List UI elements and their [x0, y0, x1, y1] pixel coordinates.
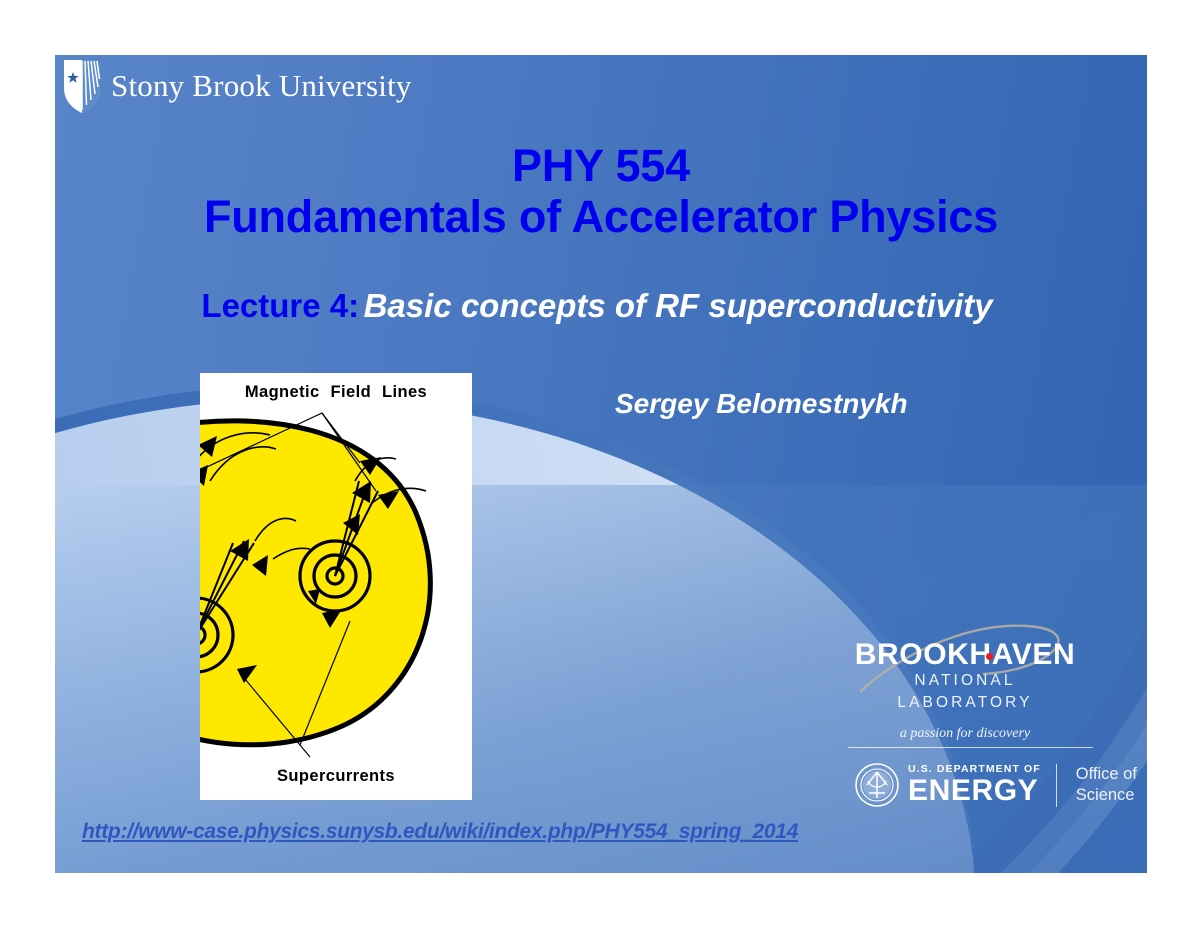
- vortex-diagram-icon: [200, 373, 472, 800]
- lecture-topic: Basic concepts of RF superconductivity: [364, 287, 993, 324]
- figure-label-supercurrents: Supercurrents: [200, 767, 472, 786]
- bnl-tagline: a passion for discovery: [845, 726, 1085, 742]
- logo-divider-rule: [848, 747, 1093, 748]
- slide-title: PHY 554 Fundamentals of Accelerator Phys…: [55, 140, 1147, 243]
- doe-wordmark: U.S. DEPARTMENT OF ENERGY: [908, 764, 1041, 806]
- bnl-subtitle: NATIONAL LABORATORY: [845, 670, 1085, 713]
- title-line-1: PHY 554: [55, 140, 1147, 191]
- stony-brook-logo: Stony Brook University: [63, 58, 412, 114]
- author-name: Sergey Belomestnykh: [615, 388, 908, 420]
- superconductor-figure: Magnetic Field Lines: [200, 373, 472, 800]
- doe-office-of-science: Office of Science: [1076, 764, 1137, 805]
- title-line-2: Fundamentals of Accelerator Physics: [55, 191, 1147, 242]
- doe-seal-icon: [855, 763, 899, 807]
- brookhaven-logo: BROOKHAVEN NATIONAL LABORATORY a passion…: [845, 640, 1085, 742]
- presentation-slide: Stony Brook University PHY 554 Fundament…: [55, 55, 1147, 873]
- doe-energy-line: ENERGY: [908, 776, 1041, 806]
- doe-logo: U.S. DEPARTMENT OF ENERGY Office of Scie…: [855, 763, 1137, 807]
- doe-vertical-divider: [1056, 764, 1057, 807]
- lecture-label: Lecture 4:: [201, 287, 359, 324]
- doe-office-line-1: Office of: [1076, 764, 1137, 785]
- course-url-link[interactable]: http://www-case.physics.sunysb.edu/wiki/…: [82, 820, 798, 844]
- bnl-wordmark: BROOKHAVEN: [855, 640, 1075, 670]
- doe-office-line-2: Science: [1076, 785, 1137, 806]
- bnl-accent-dot: [986, 653, 993, 660]
- university-name: Stony Brook University: [111, 68, 412, 104]
- shield-star-icon: [63, 58, 101, 114]
- slide-subtitle: Lecture 4: Basic concepts of RF supercon…: [55, 287, 1139, 325]
